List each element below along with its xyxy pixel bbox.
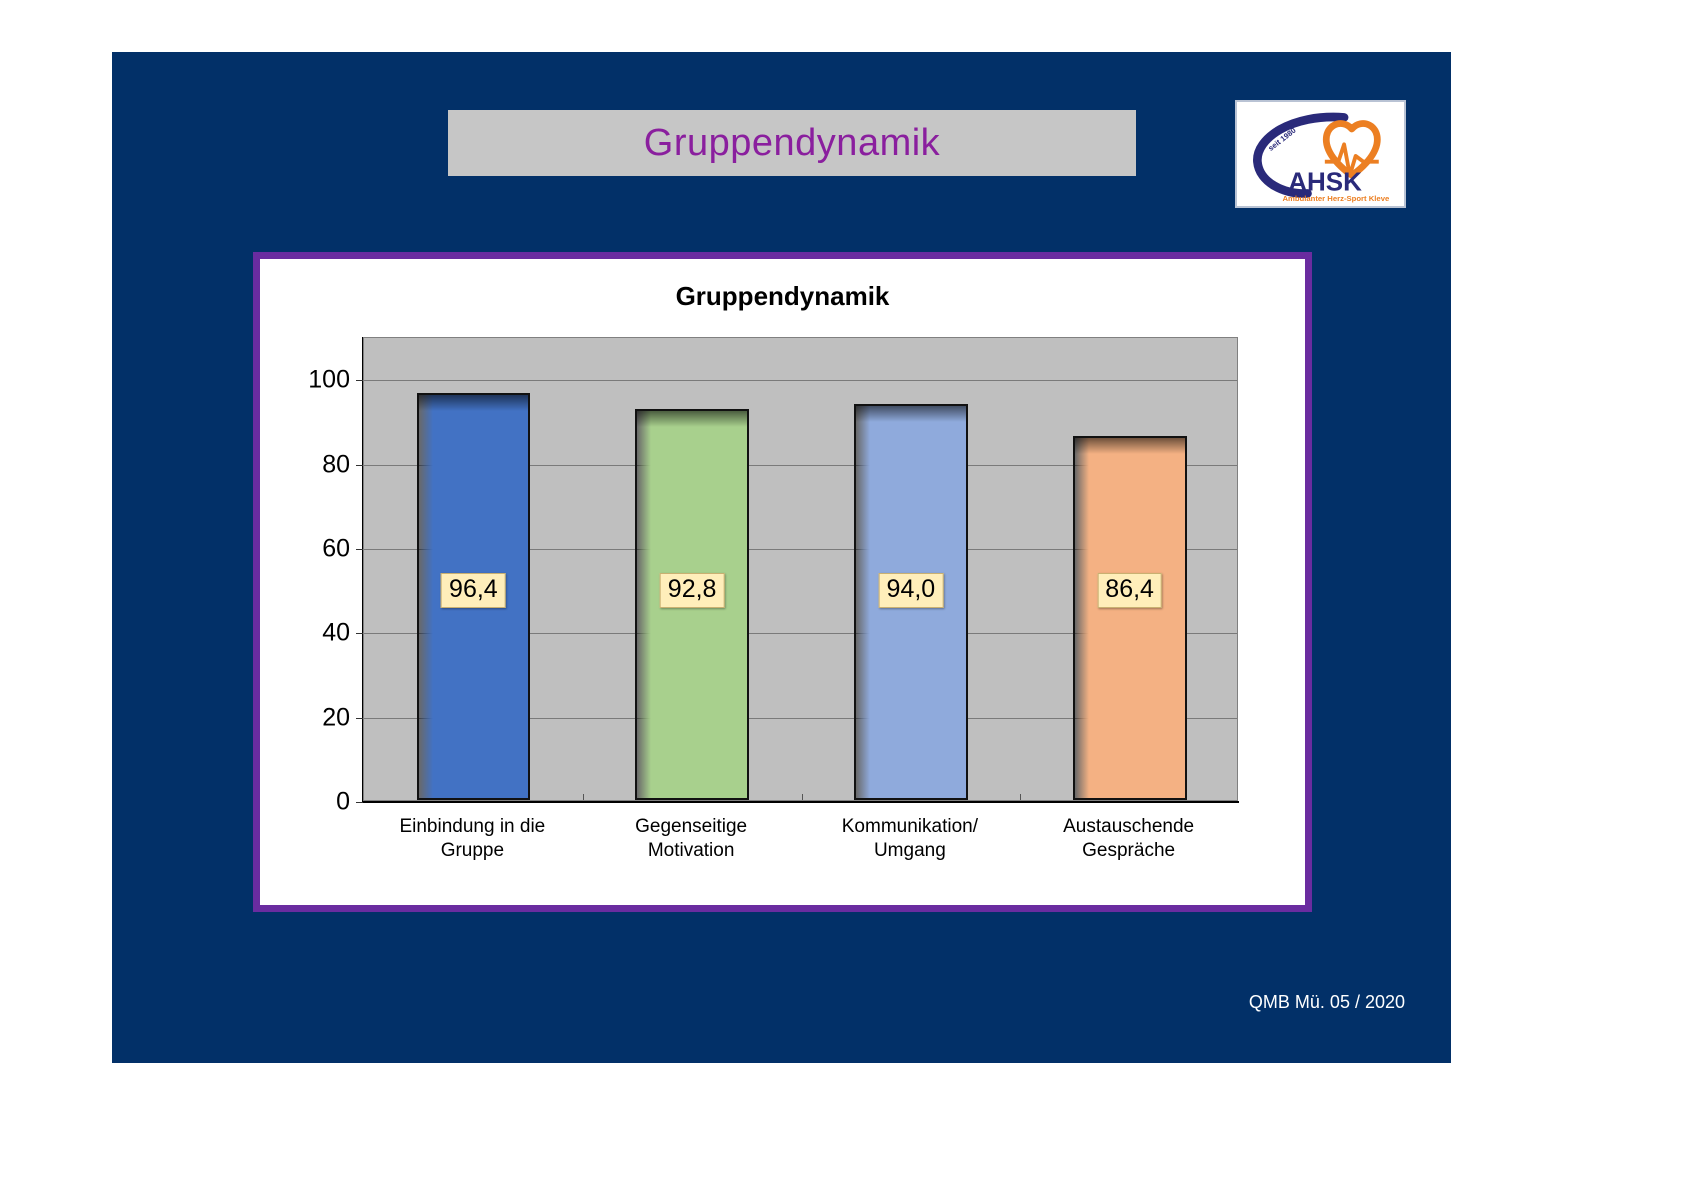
y-axis-tick-label: 0 [336, 788, 350, 817]
x-axis-category-line: Gegenseitige [582, 815, 801, 839]
x-axis-category-line: Kommunikation/ [801, 815, 1020, 839]
x-axis-tick [1020, 794, 1021, 800]
y-axis-tick [356, 549, 363, 550]
plot-area: 02040608010096,492,894,086,4 [363, 337, 1238, 801]
x-axis-line [363, 801, 1239, 803]
svg-text:Ambulanter Herz-Sport Kleve: Ambulanter Herz-Sport Kleve [1282, 194, 1390, 203]
x-axis-category-line: Einbindung in die [363, 815, 582, 839]
chart-title: Gruppendynamik [260, 281, 1305, 312]
y-axis-tick [356, 633, 363, 634]
slide-title-bar: Gruppendynamik [448, 110, 1136, 176]
bar[interactable] [1073, 436, 1187, 800]
bar-highlight [419, 395, 529, 411]
y-axis-tick-label: 40 [322, 619, 350, 648]
slide-footer: QMB Mü. 05 / 2020 [1249, 992, 1405, 1013]
bar-highlight [637, 411, 747, 427]
bar-highlight [856, 406, 966, 422]
y-axis-tick-label: 20 [322, 703, 350, 732]
x-axis-category-line: Gruppe [363, 839, 582, 863]
x-axis-category-line: Gespräche [1019, 839, 1238, 863]
y-axis-tick [356, 465, 363, 466]
bar-highlight [1075, 438, 1185, 454]
chart-frame: Gruppendynamik 02040608010096,492,894,08… [253, 252, 1312, 912]
bar-value-label: 86,4 [1097, 573, 1162, 608]
ahsk-logo-icon: seit 1980 AHSK Ambulanter Herz-Sport Kle… [1237, 102, 1404, 206]
x-axis-category-label: Kommunikation/Umgang [801, 815, 1020, 863]
x-axis-category-line: Umgang [801, 839, 1020, 863]
slide-panel: Gruppendynamik seit 1980 AHSK Ambulanter… [112, 52, 1451, 1063]
y-axis-tick-label: 60 [322, 534, 350, 563]
y-axis-tick-label: 80 [322, 450, 350, 479]
x-axis-tick [802, 794, 803, 800]
slide-title: Gruppendynamik [644, 124, 940, 162]
x-axis-tick [583, 794, 584, 800]
y-axis-tick [356, 380, 363, 381]
bar-value-label: 92,8 [660, 573, 725, 608]
chart-container: Gruppendynamik 02040608010096,492,894,08… [260, 259, 1305, 905]
y-axis-tick-label: 100 [308, 366, 350, 395]
gridline [364, 380, 1237, 381]
x-axis-category-label: Einbindung in dieGruppe [363, 815, 582, 863]
screenshot-root: Gruppendynamik seit 1980 AHSK Ambulanter… [0, 0, 1684, 1190]
svg-text:AHSK: AHSK [1288, 167, 1362, 197]
x-axis-category-label: AustauschendeGespräche [1019, 815, 1238, 863]
x-axis-category-line: Austauschende [1019, 815, 1238, 839]
x-axis-category-line: Motivation [582, 839, 801, 863]
y-axis-tick [356, 718, 363, 719]
ahsk-logo: seit 1980 AHSK Ambulanter Herz-Sport Kle… [1235, 100, 1406, 208]
bar-value-label: 94,0 [879, 573, 944, 608]
y-axis-tick [356, 802, 363, 803]
bar-value-label: 96,4 [441, 573, 506, 608]
x-axis-category-label: GegenseitigeMotivation [582, 815, 801, 863]
